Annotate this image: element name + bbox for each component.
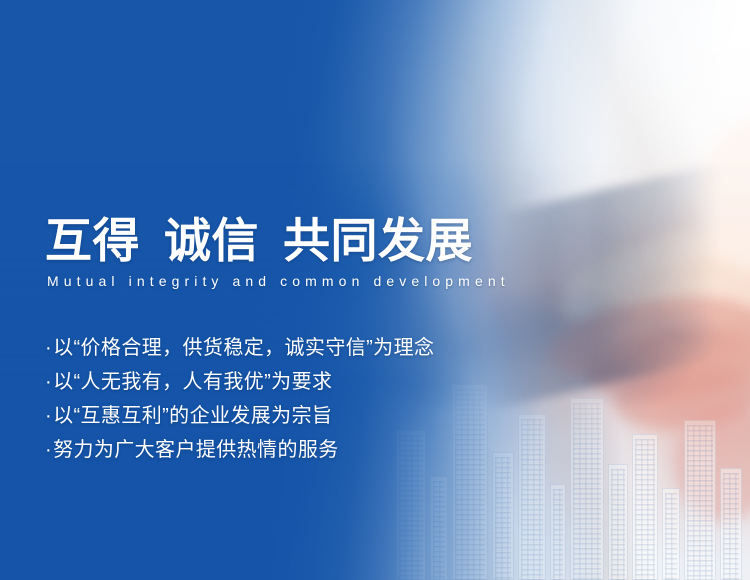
- list-item-label: 以“互惠互利”的企业发展为宗旨: [53, 405, 332, 427]
- title-part-3: 共同发展: [283, 214, 473, 267]
- bullet-marker-icon: ·: [45, 439, 52, 461]
- bullet-marker-icon: ·: [45, 405, 52, 427]
- page-title: 互得诚信共同发展: [45, 217, 473, 264]
- bullet-marker-icon: ·: [45, 337, 52, 359]
- list-item: ·以“价格合理，供货稳定，诚实守信”为理念: [45, 331, 434, 365]
- blue-brand-veil-lower: [0, 0, 750, 580]
- corporate-culture-banner: 互得诚信共同发展 Mutual integrity and common dev…: [0, 0, 750, 580]
- list-item: ·以“人无我有，人有我优”为要求: [45, 365, 434, 399]
- page-subtitle: Mutual integrity and common development: [47, 274, 510, 288]
- bullet-marker-icon: ·: [45, 371, 52, 393]
- list-item: ·以“互惠互利”的企业发展为宗旨: [45, 399, 434, 433]
- list-item-label: 努力为广大客户提供热情的服务: [53, 439, 339, 461]
- title-part-2: 诚信: [164, 214, 259, 267]
- list-item: ·努力为广大客户提供热情的服务: [45, 433, 434, 467]
- list-item-label: 以“价格合理，供货稳定，诚实守信”为理念: [53, 337, 434, 359]
- title-part-1: 互得: [45, 214, 140, 267]
- principles-list: ·以“价格合理，供货稳定，诚实守信”为理念 ·以“人无我有，人有我优”为要求 ·…: [45, 331, 434, 467]
- list-item-label: 以“人无我有，人有我优”为要求: [53, 371, 332, 393]
